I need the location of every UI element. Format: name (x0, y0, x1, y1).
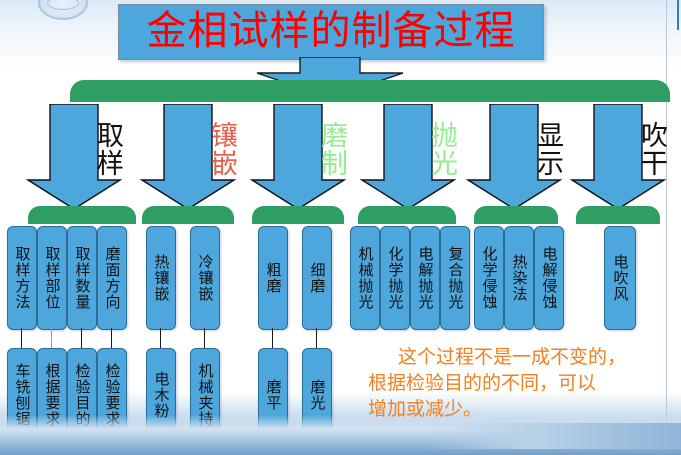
stage-arrow-5[interactable]: 吹干 (570, 104, 666, 210)
group-cap-5 (576, 206, 660, 224)
detail-box-1-0[interactable]: 热镶嵌 (146, 226, 176, 330)
detail-box-0-2[interactable]: 取样数量 (67, 226, 97, 330)
note-line-3: 增加或减少。 (368, 396, 668, 422)
detail-box-0-0[interactable]: 取样方法 (7, 226, 37, 330)
note-line-2: 根据检验目的的不同，可以 (368, 370, 668, 396)
detail-box-0-1[interactable]: 取样部位 (37, 226, 67, 330)
detail-box-3-1[interactable]: 化学抛光 (380, 226, 410, 330)
connector-0-1 (51, 328, 52, 348)
detail-box-2-1[interactable]: 细磨 (302, 226, 332, 330)
stage-label-1: 镶嵌 (140, 110, 236, 188)
stage-arrow-0[interactable]: 取样 (26, 104, 122, 210)
sub-box-0-3[interactable]: 检验要求 (97, 348, 127, 442)
note-line-1: 这个过程不是一成不变的， (368, 344, 668, 370)
detail-box-5-0[interactable]: 电吹风 (604, 226, 636, 330)
group-cap-0 (28, 206, 136, 224)
sub-box-0-1[interactable]: 根据要求 (37, 348, 67, 442)
connector-1-0 (160, 328, 161, 348)
detail-box-2-0[interactable]: 粗磨 (258, 226, 288, 330)
detail-box-0-3[interactable]: 磨面方向 (97, 226, 127, 330)
stage-arrow-4[interactable]: 显示 (466, 104, 562, 210)
detail-box-3-2[interactable]: 电解抛光 (410, 226, 440, 330)
sub-box-2-0[interactable]: 磨平 (258, 348, 288, 442)
page-title: 金相试样的制备过程 (147, 11, 516, 51)
bottom-gradient-accent (430, 423, 681, 449)
connector-0-0 (21, 328, 22, 348)
slide-canvas: 金相试样的制备过程 取样 镶嵌 磨制 (0, 0, 681, 455)
detail-box-3-0[interactable]: 机械抛光 (350, 226, 380, 330)
sub-box-2-1[interactable]: 磨光 (302, 348, 332, 442)
detail-box-3-3[interactable]: 复合抛光 (440, 226, 470, 330)
sub-box-1-0[interactable]: 电木粉 (146, 348, 176, 442)
process-note: 这个过程不是一成不变的， 根据检验目的的不同，可以 增加或减少。 (368, 344, 668, 422)
group-cap-1 (142, 206, 234, 224)
detail-box-1-1[interactable]: 冷镶嵌 (190, 226, 220, 330)
connector-1-1 (204, 328, 205, 348)
sub-box-0-0[interactable]: 车铣刨锯 (7, 348, 37, 442)
connector-0-2 (81, 328, 82, 348)
sub-box-1-1[interactable]: 机械夹持 (190, 348, 220, 442)
connector-0-3 (111, 328, 112, 348)
group-cap-2 (252, 206, 344, 224)
detail-box-4-2[interactable]: 电解侵蚀 (534, 226, 564, 330)
stage-label-2: 磨制 (250, 110, 346, 188)
stage-label-4: 显示 (466, 110, 562, 188)
institution-logo-icon (38, 0, 88, 20)
stage-label-3: 抛光 (360, 110, 456, 188)
main-flow-green-bar (70, 80, 670, 102)
stage-arrow-2[interactable]: 磨制 (250, 104, 346, 210)
group-cap-3 (358, 206, 456, 224)
connector-2-1 (316, 328, 317, 348)
stage-label-0: 取样 (26, 110, 122, 188)
detail-box-4-0[interactable]: 化学侵蚀 (474, 226, 504, 330)
detail-box-4-1[interactable]: 热染法 (504, 226, 534, 330)
right-accent-mark (677, 0, 679, 30)
stage-arrow-1[interactable]: 镶嵌 (140, 104, 236, 210)
group-cap-4 (474, 206, 558, 224)
sub-box-0-2[interactable]: 检验目的 (67, 348, 97, 442)
stage-label-5: 吹干 (570, 110, 666, 188)
slide-title-box: 金相试样的制备过程 (118, 4, 544, 60)
connector-2-0 (272, 328, 273, 348)
stage-arrow-3[interactable]: 抛光 (360, 104, 456, 210)
